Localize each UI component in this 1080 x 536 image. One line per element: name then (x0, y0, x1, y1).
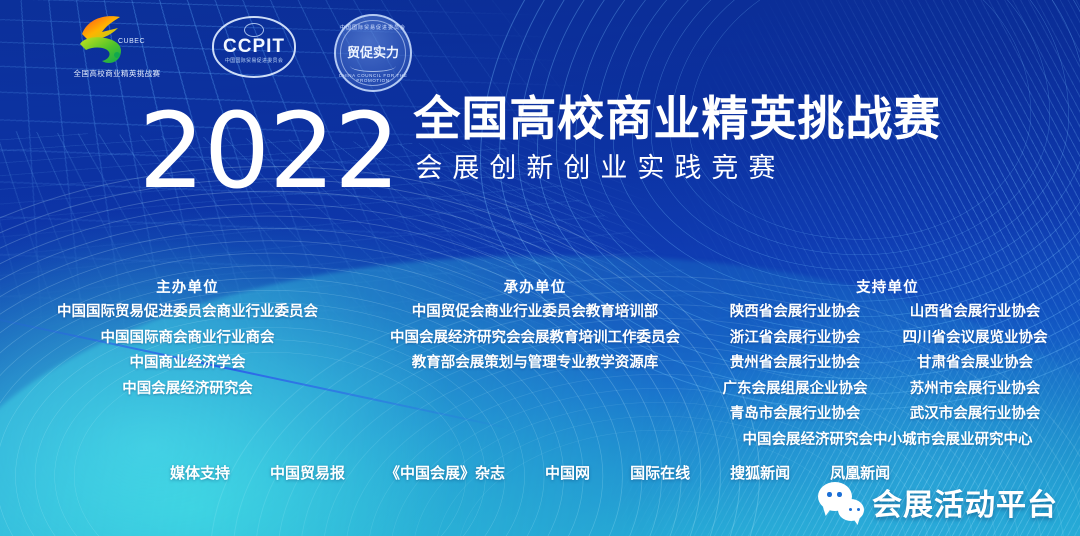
supporter-entry-wide: 中国会展经济研究会中小城市会展业研究中心 (743, 433, 1033, 448)
host-entry: 中国商业经济学会 (130, 356, 246, 371)
supporter-entry: 广东会展组展企业协会 (708, 382, 883, 397)
supporter-heading: 支持单位 (856, 276, 919, 297)
wechat-dot-icon (857, 508, 861, 512)
supporter-entry: 贵州省会展行业协会 (708, 356, 883, 371)
undertaker-entry: 中国贸促会商业行业委员会教育培训部 (412, 305, 659, 320)
supporter-row: 贵州省会展行业协会 甘肃省会展业协会 (695, 356, 1080, 371)
seal-caption-bottom: CHINA COUNCIL FOR THE PROMOTION (332, 73, 414, 83)
seal-caption-top: 中国国际贸易促进委员会 (332, 24, 414, 31)
media-outlet: 国际在线 (630, 462, 690, 483)
supporter-row: 青岛市会展行业协会 武汉市会展行业协会 (695, 407, 1080, 422)
media-outlet: 中国贸易报 (270, 462, 345, 483)
ccpit-acronym: CCPIT (206, 36, 302, 58)
supporter-entry: 武汉市会展行业协会 (883, 407, 1068, 422)
title-stack: 全国高校商业精英挑战赛 会展创新创业实践竞赛 (413, 92, 941, 186)
wechat-icon (818, 482, 864, 522)
undertaker-column: 承办单位 中国贸促会商业行业委员会教育培训部 中国会展经济研究会会展教育培训工作… (375, 276, 695, 458)
supporter-entry: 苏州市会展行业协会 (883, 382, 1068, 397)
host-entry: 中国国际商会商业行业商会 (101, 331, 275, 346)
ccpit-globe-icon (244, 23, 264, 37)
host-column: 主办单位 中国国际贸易促进委员会商业行业委员会 中国国际商会商业行业商会 中国商… (0, 276, 375, 458)
wechat-dot-icon (837, 492, 842, 497)
supporter-row: 陕西省会展行业协会 山西省会展行业协会 (695, 305, 1080, 320)
supporter-entry: 青岛市会展行业协会 (708, 407, 883, 422)
logo-bar: CUBEC 全国高校商业精英挑战赛 CCPIT 中国国际贸易促进委员会 中国国际… (58, 12, 414, 94)
seal-logo: 中国国际贸易促进委员会 贸促实力 CHINA COUNCIL FOR THE P… (332, 12, 414, 94)
cubec-acronym: CUBEC (118, 38, 145, 45)
supporter-row: 广东会展组展企业协会 苏州市会展行业协会 (695, 382, 1080, 397)
poster-title: 2022 全国高校商业精英挑战赛 会展创新创业实践竞赛 (0, 92, 1080, 200)
media-support-row: 媒体支持 中国贸易报 《中国会展》杂志 中国网 国际在线 搜狐新闻 凤凰新闻 (170, 462, 890, 483)
undertaker-entry: 中国会展经济研究会会展教育培训工作委员会 (390, 331, 680, 346)
undertaker-heading: 承办单位 (504, 276, 567, 297)
cubec-caption: 全国高校商业精英挑战赛 (58, 68, 176, 79)
supporter-entry: 浙江省会展行业协会 (708, 331, 883, 346)
undertaker-entry: 教育部会展策划与管理专业教学资源库 (412, 356, 659, 371)
wechat-label: 会展活动平台 (872, 480, 1058, 524)
ccpit-caption: 中国国际贸易促进委员会 (206, 57, 302, 64)
media-support-label: 媒体支持 (170, 462, 230, 483)
wechat-badge: 会展活动平台 (818, 480, 1058, 524)
organizer-columns: 主办单位 中国国际贸易促进委员会商业行业委员会 中国国际商会商业行业商会 中国商… (0, 276, 1080, 458)
ccpit-logo: CCPIT 中国国际贸易促进委员会 (206, 12, 302, 84)
seal-wave-icon (350, 60, 396, 72)
wechat-dot-icon (849, 508, 853, 512)
title-main: 全国高校商业精英挑战赛 (413, 92, 941, 146)
host-entry: 中国会展经济研究会 (122, 382, 253, 397)
title-subtitle: 会展创新创业实践竞赛 (413, 150, 941, 186)
media-outlet: 《中国会展》杂志 (385, 462, 505, 483)
supporter-entry: 陕西省会展行业协会 (708, 305, 883, 320)
event-poster: CUBEC 全国高校商业精英挑战赛 CCPIT 中国国际贸易促进委员会 中国国际… (0, 0, 1080, 536)
supporter-row: 浙江省会展行业协会 四川省会议展览业协会 (695, 331, 1080, 346)
media-outlet: 中国网 (545, 462, 590, 483)
media-outlet: 搜狐新闻 (730, 462, 790, 483)
cubec-logo: CUBEC 全国高校商业精英挑战赛 (58, 12, 176, 90)
year-text: 2022 (139, 104, 400, 200)
host-entry: 中国国际贸易促进委员会商业行业委员会 (57, 305, 318, 320)
host-heading: 主办单位 (156, 276, 219, 297)
wechat-dot-icon (827, 492, 832, 497)
supporter-entry: 甘肃省会展业协会 (883, 356, 1068, 371)
supporter-entry: 山西省会展行业协会 (883, 305, 1068, 320)
seal-acronym: 贸促实力 (332, 42, 414, 61)
supporter-column: 支持单位 陕西省会展行业协会 山西省会展行业协会 浙江省会展行业协会 四川省会议… (695, 276, 1080, 458)
supporter-entry: 四川省会议展览业协会 (883, 331, 1068, 346)
